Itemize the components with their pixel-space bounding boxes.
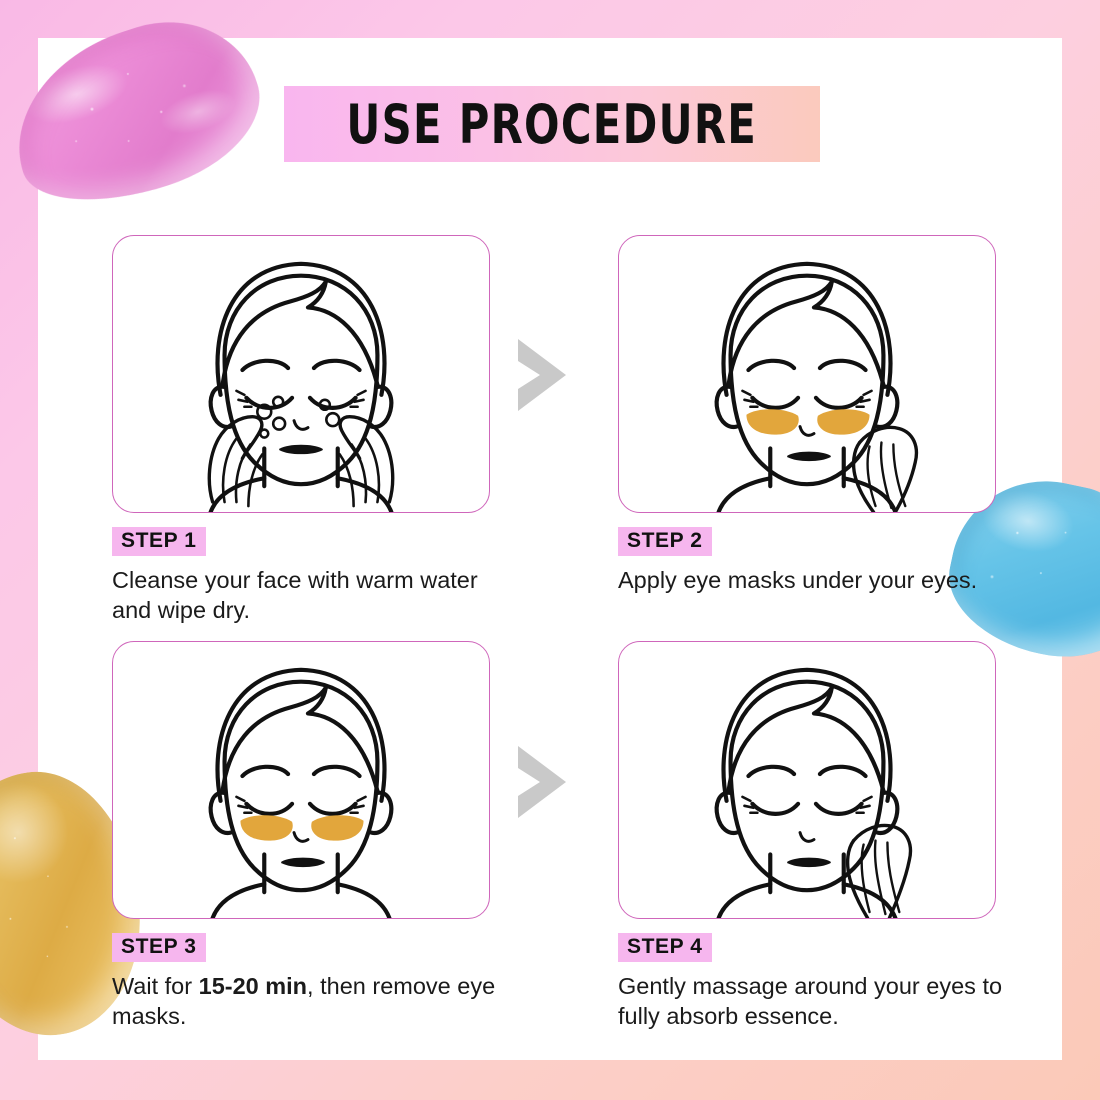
step-1-text-part1: Cleanse your face with warm water and wi… [112,567,478,623]
step-3-text-part1: Wait for [112,973,199,999]
step-2-illustration [618,235,996,513]
step-panel-4: STEP 4 Gently massage around your eyes t… [618,641,1018,1032]
step-4-caption: STEP 4 Gently massage around your eyes t… [618,933,1018,1032]
step-4-badge: STEP 4 [618,933,712,962]
step-panel-1: STEP 1 Cleanse your face with warm water… [112,235,512,626]
step-2-caption: STEP 2 Apply eye masks under your eyes. [618,527,1018,595]
step-panel-3: STEP 3 Wait for 15-20 min, then remove e… [112,641,512,1032]
steps-grid: STEP 1 Cleanse your face with warm water… [0,0,1100,1100]
step-4-illustration [618,641,996,919]
step-3-illustration [112,641,490,919]
step-3-text-bold: 15-20 min [199,973,307,999]
step-3-caption: STEP 3 Wait for 15-20 min, then remove e… [112,933,512,1032]
step-panel-2: STEP 2 Apply eye masks under your eyes. [618,235,1018,595]
step-3-text: Wait for 15-20 min, then remove eye mask… [112,971,504,1032]
step-1-illustration [112,235,490,513]
step-3-badge: STEP 3 [112,933,206,962]
chevron-right-icon-row1 [510,333,580,417]
step-4-text-part1: Gently massage around your eyes to fully… [618,973,1002,1029]
step-4-text: Gently massage around your eyes to fully… [618,971,1010,1032]
chevron-right-icon-row2 [510,740,580,824]
use-procedure-poster: USE PROCEDURE [0,0,1100,1100]
step-1-caption: STEP 1 Cleanse your face with warm water… [112,527,512,626]
step-2-text: Apply eye masks under your eyes. [618,565,1010,595]
step-2-badge: STEP 2 [618,527,712,556]
step-1-badge: STEP 1 [112,527,206,556]
step-2-text-part1: Apply eye masks under your eyes. [618,567,977,593]
step-1-text: Cleanse your face with warm water and wi… [112,565,504,626]
